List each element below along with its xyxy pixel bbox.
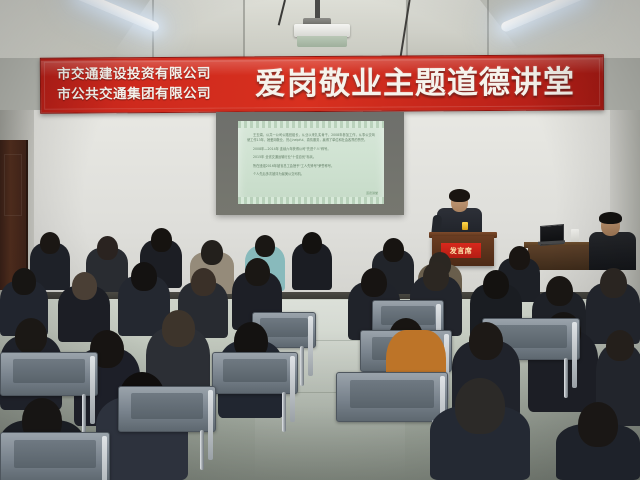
operator-hair: [599, 212, 622, 224]
conference-room-photo: 市交通建设投资有限公司 市公共交通集团有限公司 爱岗敬业主题道德讲堂 王玉娟，公…: [0, 0, 640, 480]
chair-left-rear-rail: [90, 356, 95, 424]
chair-mid-left-1-leg: [200, 430, 204, 470]
chair-mid-left-2-rail: [290, 356, 295, 422]
attendee-row2-6-head: [361, 268, 387, 297]
chair-mid-left-1[interactable]: [118, 386, 216, 432]
speaker-hair: [449, 189, 470, 202]
banner-organizations: 市交通建设投资有限公司 市公共交通集团有限公司: [57, 63, 253, 104]
projection-screen: 王玉娟，公共一公司公路班组长，从业以来扎实肯干，2008年参加工作，从事公交驾驶…: [216, 112, 404, 215]
attendee-row2-2-head: [72, 272, 97, 300]
attendee-row2-7-head: [423, 262, 449, 291]
slide-paragraph-3: 2015年 全省交通运输行业"十佳百优"标兵。: [247, 155, 375, 160]
attendee-center-1-head: [302, 232, 322, 254]
attendee-row2-10-head: [600, 268, 627, 298]
operator-torso: [589, 232, 636, 270]
door-panel: [4, 154, 22, 216]
slide-body-text: 王玉娟，公共一公司公路班组长，从业以来扎实肯干，2008年参加工作，从事公交驾驶…: [247, 133, 375, 180]
speaker-badge-icon: [462, 222, 468, 230]
slide-paragraph-1: 王玉娟，公共一公司公路班组长，从业以来扎实肯干，2008年参加工作，从事公交驾驶…: [247, 133, 375, 144]
chair-right-rear-rail: [572, 322, 577, 388]
ceiling-rib-center-left: [243, 0, 245, 58]
attendee-front-right: [430, 378, 530, 480]
banner-headline: 爱岗敬业主题道德讲堂: [255, 58, 597, 108]
chair-front-left[interactable]: [0, 432, 110, 480]
attendee-front-far-right-head: [578, 402, 618, 447]
attendee-row2-1-head: [12, 268, 36, 295]
attendee-row3-8-head: [606, 330, 634, 361]
attendee-front-far-right: [556, 402, 640, 480]
chair-left-rear[interactable]: [0, 352, 98, 396]
slide-paragraph-4: 所在班组2016年被省总工会授予"工人先锋号"荣誉称号。: [247, 164, 375, 169]
projected-slide: 王玉娟，公共一公司公路班组长，从业以来扎实肯干，2008年参加工作，从事公交驾驶…: [238, 121, 384, 204]
attendee-row3-1-head: [15, 318, 47, 354]
chair-front-left-rail: [102, 436, 107, 480]
event-banner: 市交通建设投资有限公司 市公共交通集团有限公司 爱岗敬业主题道德讲堂: [40, 54, 604, 113]
slide-border-top: [238, 121, 384, 128]
attendee-row2-4-head: [191, 268, 216, 296]
paper-cup-icon: [571, 229, 579, 242]
slide-paragraph-5: 个人先后多次被评为最美公交司机。: [247, 172, 375, 177]
attendee-front-right-head: [455, 378, 505, 434]
attendee-right-1-head: [383, 238, 404, 262]
attendee-teal-jacket-head: [255, 235, 275, 257]
banner-org-line-1: 市交通建设投资有限公司: [57, 63, 253, 84]
chair-mid-left-2-leg: [282, 392, 286, 432]
banner-org-line-2: 市公共交通集团有限公司: [57, 83, 253, 104]
attendee-row3-6-head: [469, 322, 503, 360]
chair-left-far-rail: [308, 316, 313, 376]
slide-logo: 道德讲堂: [366, 191, 378, 195]
chair-mid-left-1-rail: [208, 390, 213, 460]
chair-right-rear-leg: [564, 358, 568, 398]
banner-highlight: [41, 57, 603, 76]
attendee-khaki-jacket-head: [201, 240, 223, 265]
projector-base: [297, 36, 347, 47]
slide-paragraph-2: 2008年—2014年 连续六年获得公司"先进个人"称号。: [247, 147, 375, 152]
attendee-right-2-head: [509, 246, 530, 270]
ceiling-rib-right: [487, 0, 489, 58]
attendee-back-left-2-head: [97, 236, 118, 260]
attendee-center-1: [292, 232, 332, 290]
chair-mid-left-2[interactable]: [212, 352, 298, 394]
attendee-row2-9-head: [546, 276, 573, 306]
attendee-row2-3-head: [131, 262, 157, 291]
attendee-back-left-3-head: [151, 228, 172, 252]
slide-border-bottom: [238, 197, 384, 204]
chair-left-far-leg: [300, 346, 304, 386]
attendee-row2-5-head: [245, 258, 270, 286]
attendee-row3-3-head: [162, 310, 195, 347]
attendee-row2-8-head: [483, 270, 509, 299]
attendee-back-left-1-head: [40, 232, 60, 254]
